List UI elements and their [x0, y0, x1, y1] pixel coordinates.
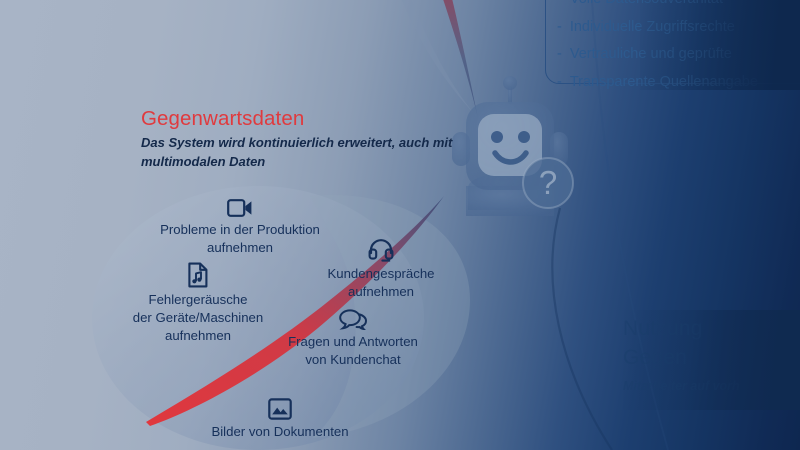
- data-node-image[interactable]: Bilder von Dokumenten: [180, 398, 380, 441]
- bullet-dash: -: [557, 47, 562, 62]
- ghost-subline: Mitarbeiter auf vorh: [623, 377, 800, 396]
- top-spike-wide: [398, 0, 478, 118]
- pillar-item-label: Volle Datensouveränität: [570, 0, 723, 7]
- pillar-item-label: Transparente Quellenangabe: [570, 75, 758, 90]
- mascot-eye-right: [518, 131, 530, 143]
- pillar-item: - Vertrauliche und geprüfte: [557, 47, 800, 62]
- pillars-list: - Volle Datensouveränität - Individuelle…: [557, 0, 800, 102]
- data-node-label: Probleme in der Produktion aufnehmen: [160, 222, 320, 255]
- pillar-item-label: Vertrauliche und geprüfte: [570, 47, 732, 62]
- slide-canvas: ? - Volle Datensouveränität - Individuel…: [0, 0, 800, 450]
- picture-icon: [180, 398, 380, 420]
- data-node-label: Bilder von Dokumenten: [211, 424, 348, 439]
- ghost-headline-line2: Gegen: [623, 347, 800, 369]
- bullet-dash: -: [557, 0, 562, 7]
- pillar-item: - Individuelle Zugriffsrechte: [557, 20, 800, 35]
- data-node-label: Fragen und Antworten von Kundenchat: [288, 334, 418, 367]
- headline-block: Gegenwartsdaten Das System wird kontinui…: [141, 108, 471, 171]
- data-node-label: Kundengespräche aufnehmen: [327, 266, 434, 299]
- background-ghost-headline: Nutzung Gegen Mitarbeiter auf vorh: [623, 318, 800, 396]
- audio-file-icon: [98, 262, 298, 288]
- page-title: Gegenwartsdaten: [141, 108, 471, 131]
- pillar-item: - Transparente Quellenangabe: [557, 75, 800, 90]
- data-node-chat[interactable]: Fragen und Antworten von Kundenchat: [258, 308, 448, 369]
- mascot-eye-left: [491, 131, 503, 143]
- bullet-dash: -: [557, 75, 562, 90]
- bullet-dash: -: [557, 20, 562, 35]
- ghost-headline-line1: Nutzung: [623, 318, 800, 340]
- data-node-headset[interactable]: Kundengespräche aufnehmen: [310, 238, 452, 301]
- headset-icon: [310, 238, 452, 262]
- chat-bubbles-icon: [258, 308, 448, 330]
- pillar-item-label: Individuelle Zugriffsrechte: [570, 20, 735, 35]
- top-spike: [440, 0, 478, 118]
- page-subtitle: Das System wird kontinuierlich erweitert…: [141, 134, 471, 172]
- question-mark-glyph: ?: [539, 164, 557, 201]
- video-camera-icon: [130, 198, 350, 218]
- data-node-label: Fehlergeräusche der Geräte/Maschinen auf…: [133, 292, 263, 343]
- background-arc-line: [552, 208, 612, 450]
- pillar-item: - Volle Datensouveränität: [557, 0, 800, 7]
